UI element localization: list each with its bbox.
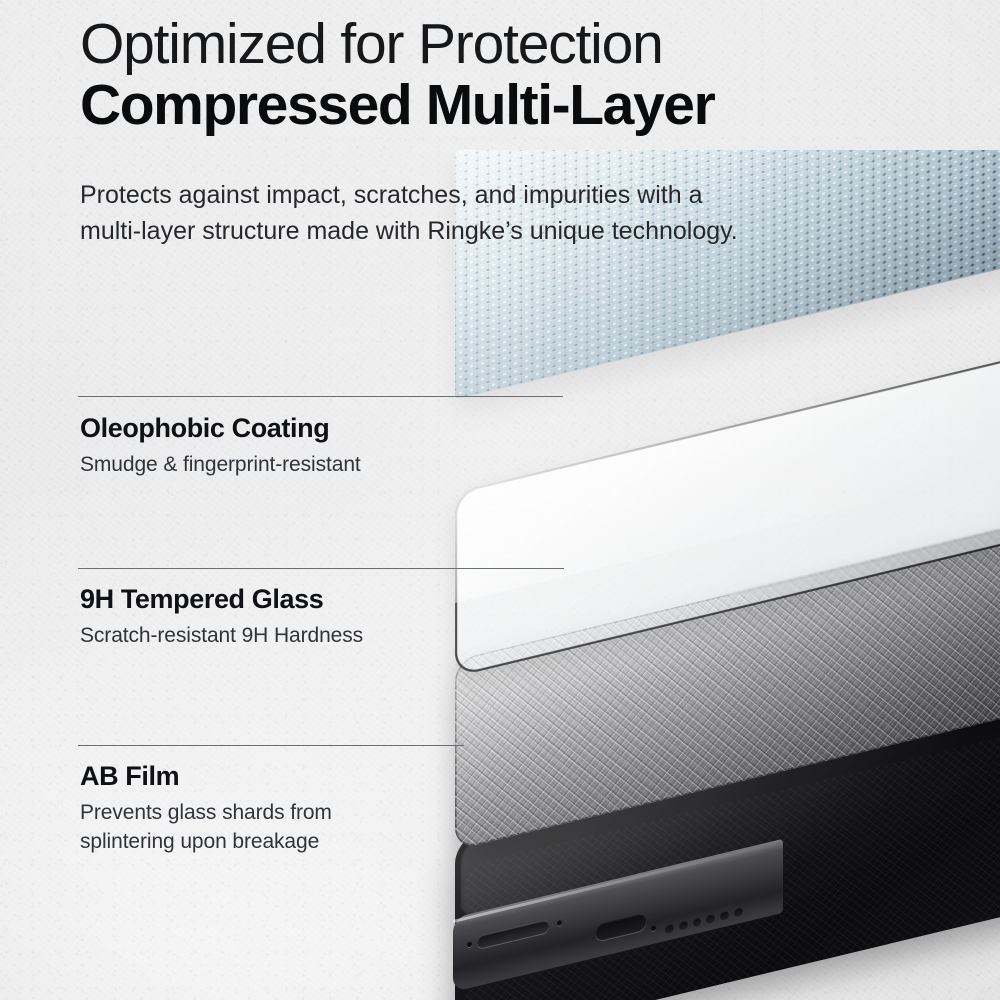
- headline-block: Optimized for Protection Compressed Mult…: [80, 14, 920, 137]
- phone-screen: [459, 694, 1000, 1000]
- leader-line-tempered-glass: [78, 568, 564, 569]
- callout-description: Smudge & fingerprint-resistant: [80, 451, 361, 480]
- subcopy-paragraph: Protects against impact, scratches, and …: [80, 178, 910, 249]
- tempered-glass-layer: [455, 338, 1000, 677]
- callout-description: Prevents glass shards from splintering u…: [80, 799, 332, 856]
- sim-eject-hole-icon: [467, 941, 472, 947]
- leader-line-ab-film: [78, 745, 464, 746]
- microphone-icon: [651, 925, 656, 931]
- callout-description-line-1: Prevents glass shards from: [80, 799, 332, 828]
- callout-title: Oleophobic Coating: [80, 412, 361, 444]
- sensor-hole-icon: [557, 920, 562, 926]
- phone-gloss-highlight: [461, 737, 895, 934]
- smartphone-device: [455, 838, 1000, 1000]
- promo-banner: Optimized for Protection Compressed Mult…: [0, 0, 1000, 1000]
- subcopy-line-1: Protects against impact, scratches, and …: [80, 178, 910, 214]
- usb-c-port-icon: [595, 911, 647, 941]
- leader-line-oleophobic-coating: [78, 396, 563, 397]
- callout-oleophobic-coating: Oleophobic Coating Smudge & fingerprint-…: [80, 412, 361, 480]
- subcopy-line-2: multi-layer structure made with Ringke’s…: [80, 214, 910, 250]
- speaker-grille-icon: [665, 906, 743, 934]
- headline-line-1: Optimized for Protection: [80, 14, 920, 76]
- callout-description: Scratch-resistant 9H Hardness: [80, 622, 363, 651]
- callout-description-line-1: Scratch-resistant 9H Hardness: [80, 622, 363, 651]
- frame-highlight: [453, 841, 783, 923]
- ab-film-diamond-texture: [455, 506, 1000, 850]
- callout-ab-film: AB Film Prevents glass shards from splin…: [80, 760, 332, 856]
- callout-description-line-1: Smudge & fingerprint-resistant: [80, 451, 361, 480]
- ab-film-layer: [455, 506, 1000, 850]
- callout-title: AB Film: [80, 760, 332, 792]
- phone-surface-texture: [465, 722, 1000, 1000]
- ab-film-texture-overlay: [455, 506, 1000, 850]
- phone-bottom-frame: [453, 839, 783, 992]
- phone-body: [455, 689, 1000, 1000]
- sim-tray-icon: [477, 919, 549, 949]
- ab-film-shading: [455, 506, 1000, 850]
- callout-tempered-glass: 9H Tempered Glass Scratch-resistant 9H H…: [80, 583, 363, 651]
- callout-title: 9H Tempered Glass: [80, 583, 363, 615]
- headline-line-2: Compressed Multi-Layer: [80, 74, 920, 138]
- callout-description-line-2: splintering upon breakage: [80, 828, 332, 857]
- glass-sheen: [455, 338, 1000, 603]
